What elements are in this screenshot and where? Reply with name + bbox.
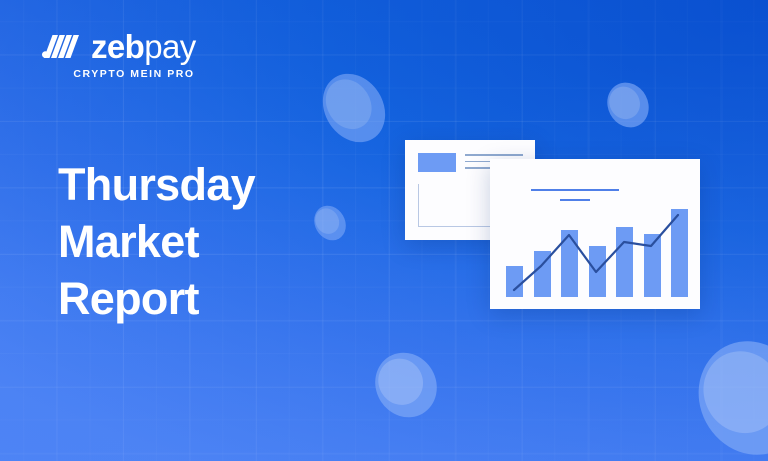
bar-line-combo-chart (506, 209, 688, 297)
growth-chart-card (490, 159, 700, 309)
market-report-banner: zebpay CRYPTO MEIN PRO Thursday Market R… (0, 0, 768, 461)
trend-line-series (506, 209, 688, 297)
trend-line-path (514, 215, 678, 290)
text-line (465, 154, 523, 156)
header-line (531, 189, 619, 191)
report-illustration (0, 0, 768, 461)
header-line (560, 199, 590, 201)
image-placeholder-block (418, 153, 456, 172)
